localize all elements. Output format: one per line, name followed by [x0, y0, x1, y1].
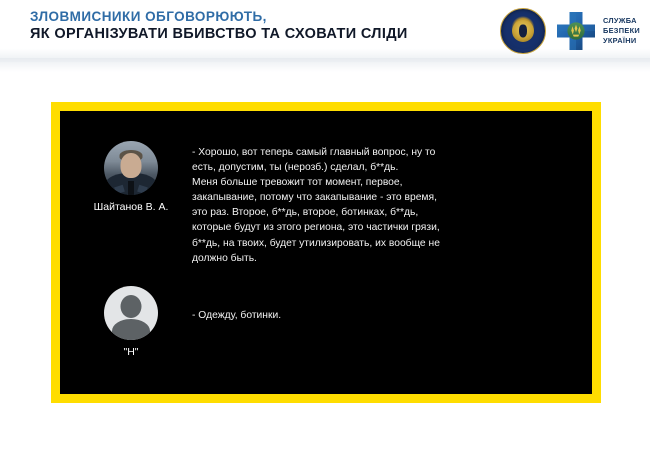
sbu-word-3: УКРАЇНИ	[603, 36, 640, 46]
sbu-word-2: БЕЗПЕКИ	[603, 26, 640, 36]
page-title: ЗЛОВМИСНИКИ ОБГОВОРЮЮТЬ, ЯК ОРГАНІЗУВАТИ…	[30, 8, 470, 43]
page-header: ЗЛОВМИСНИКИ ОБГОВОРЮЮТЬ, ЯК ОРГАНІЗУВАТИ…	[0, 0, 650, 62]
title-line-2: ЯК ОРГАНІЗУВАТИ ВБИВСТВО ТА СХОВАТИ СЛІД…	[30, 25, 470, 43]
header-divider-sheen	[0, 58, 650, 72]
dialog-entry: Шайтанов В. А. - Хорошо, вот теперь самы…	[70, 141, 440, 266]
sbu-word-1: СЛУЖБА	[603, 16, 640, 26]
sbu-cross-emblem-icon	[554, 9, 598, 53]
dialog-entry: "Н" - Одежду, ботинки.	[70, 286, 281, 358]
avatar-photo-icon	[104, 141, 158, 195]
speaker-name: Шайтанов В. А.	[94, 201, 169, 213]
sbu-wordmark: СЛУЖБА БЕЗПЕКИ УКРАЇНИ	[603, 16, 640, 46]
speaker-name: "Н"	[123, 346, 138, 358]
speaker-avatar-column: "Н"	[70, 286, 192, 358]
sbu-logo: СЛУЖБА БЕЗПЕКИ УКРАЇНИ	[554, 9, 640, 53]
speech-text: - Хорошо, вот теперь самый главный вопро…	[192, 141, 440, 266]
speech-text: - Одежду, ботинки.	[192, 286, 281, 323]
emblem-group: СЛУЖБА БЕЗПЕКИ УКРАЇНИ	[500, 6, 640, 56]
yellow-frame: Шайтанов В. А. - Хорошо, вот теперь самы…	[51, 102, 601, 403]
title-line-1: ЗЛОВМИСНИКИ ОБГОВОРЮЮТЬ,	[30, 8, 470, 25]
avatar-silhouette-icon	[104, 286, 158, 340]
state-emblem-gold-round-icon	[500, 8, 546, 54]
transcript-panel: Шайтанов В. А. - Хорошо, вот теперь самы…	[60, 111, 592, 394]
speaker-avatar-column: Шайтанов В. А.	[70, 141, 192, 213]
